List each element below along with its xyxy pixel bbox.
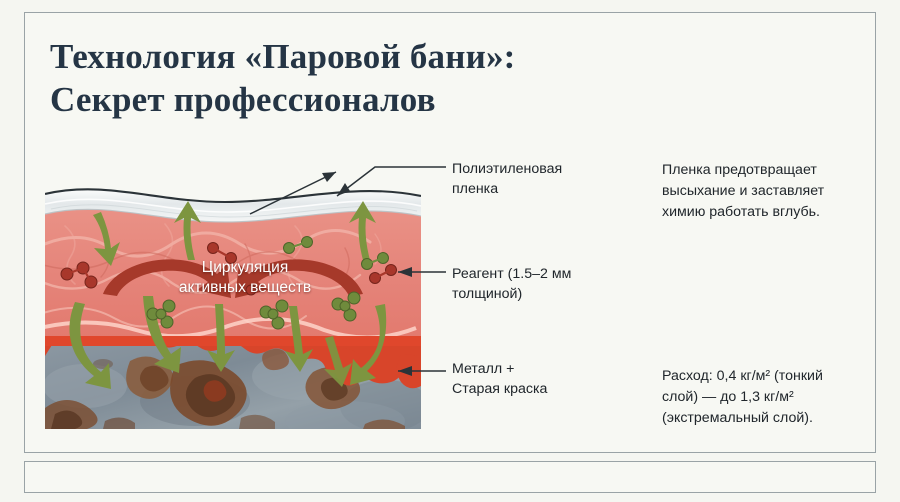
slide-footer-strip [24, 461, 876, 493]
callout-metal: Металл + Старая краска [452, 359, 632, 399]
callout-reagent-line-1: Реагент (1.5–2 мм [452, 264, 632, 284]
callout-reagent-line-2: толщиной) [452, 284, 632, 304]
page-title: Технология «Паровой бани»: Секрет профес… [50, 36, 750, 121]
callout-film-line-1: Полиэтиленовая [452, 159, 632, 179]
callout-metal-line-1: Металл + [452, 359, 632, 379]
callout-film-line-2: пленка [452, 179, 632, 199]
note-consumption-line-3: (экстремальный слой). [662, 408, 877, 429]
note-consumption: Расход: 0,4 кг/м² (тонкий слой) — до 1,3… [662, 366, 877, 429]
slide-canvas: Технология «Паровой бани»: Секрет профес… [0, 0, 900, 502]
page-title-line-2: Секрет профессионалов [50, 79, 750, 122]
note-film-effect: Пленка предотвращает высыхание и заставл… [662, 160, 877, 223]
note-film-effect-line-3: химию работать вглубь. [662, 202, 877, 223]
callout-reagent: Реагент (1.5–2 мм толщиной) [452, 264, 632, 304]
page-title-line-1: Технология «Паровой бани»: [50, 36, 750, 79]
note-consumption-line-2: слой) — до 1,3 кг/м² [662, 387, 877, 408]
callout-metal-line-2: Старая краска [452, 379, 632, 399]
note-film-effect-line-2: высыхание и заставляет [662, 181, 877, 202]
note-film-effect-line-1: Пленка предотвращает [662, 160, 877, 181]
note-consumption-line-1: Расход: 0,4 кг/м² (тонкий [662, 366, 877, 387]
cross-section-diagram [45, 186, 421, 429]
callout-film: Полиэтиленовая пленка [452, 159, 632, 199]
